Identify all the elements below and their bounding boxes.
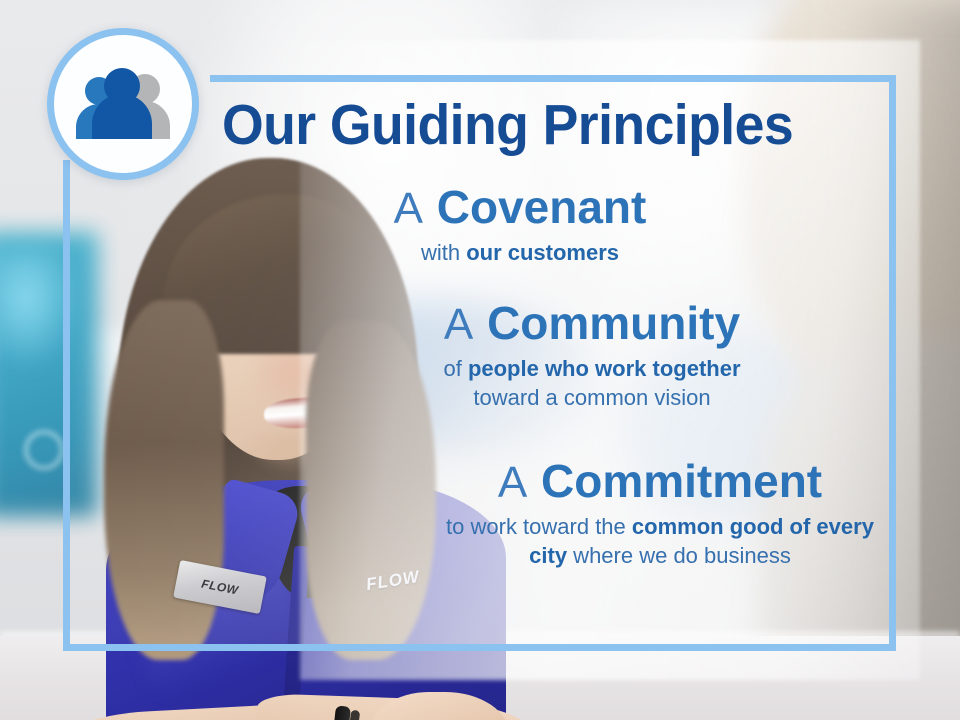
principle-1-keyword: Covenant [437, 181, 647, 233]
principle-1-article: A [394, 184, 424, 233]
principle-2-article: A [444, 300, 474, 349]
page-title: Our Guiding Principles [222, 97, 793, 154]
principle-1-sub-bold: our customers [466, 240, 619, 265]
principle-block-3: A Commitment to work toward the common g… [430, 458, 890, 571]
banner-stage: FLOW FLOW [0, 0, 960, 720]
principle-2-keyword: Community [487, 297, 740, 349]
principle-3-subtext: to work toward the common good of every … [430, 512, 890, 571]
principle-1-sub-lead: with [421, 240, 466, 265]
principle-block-2: A Community of people who work together … [372, 300, 812, 412]
principle-1-subtext: with our customers [330, 238, 710, 267]
principle-2-headline: A Community [372, 300, 812, 348]
principle-block-1: A Covenant with our customers [330, 184, 710, 267]
principle-2-sub-bold: people who work together [468, 356, 741, 381]
principle-3-article: A [498, 458, 528, 507]
principle-3-keyword: Commitment [541, 455, 822, 507]
principle-2-sub-line2: toward a common vision [473, 385, 710, 410]
principle-2-subtext: of people who work together toward a com… [372, 354, 812, 412]
principle-1-headline: A Covenant [330, 184, 710, 232]
principle-3-sub-lead: to work toward the [446, 514, 632, 539]
principle-3-headline: A Commitment [430, 458, 890, 506]
principle-3-sub-tail: where we do business [567, 543, 791, 568]
principle-2-sub-lead: of [443, 356, 467, 381]
banner-content: Our Guiding Principles A Covenant with o… [0, 0, 960, 720]
